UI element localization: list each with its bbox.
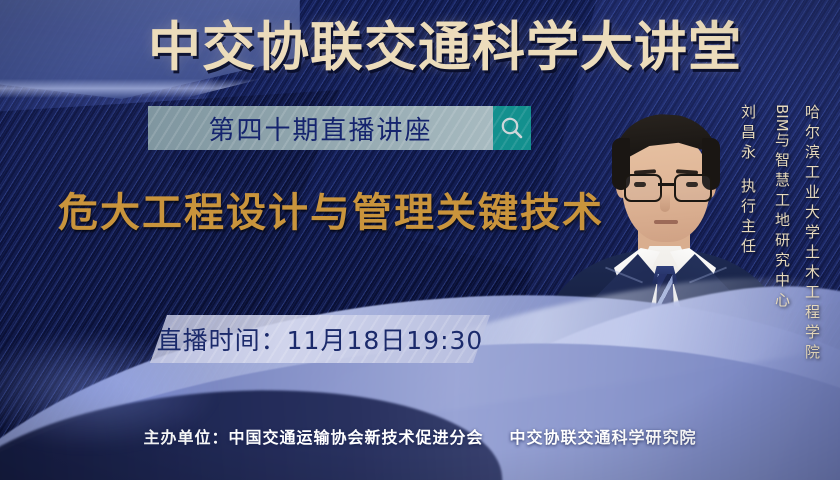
glasses-lens-left bbox=[624, 174, 662, 202]
speaker-role: 执行主任 bbox=[738, 178, 759, 258]
speaker-org-school: 哈尔滨工业大学土木工程学院 bbox=[802, 104, 823, 364]
speaker-org-center: BIM与智慧工地研究中心 bbox=[772, 104, 796, 312]
portrait-nose bbox=[660, 192, 670, 212]
footer-organizer-second: 中交协联交通科学研究院 bbox=[510, 428, 697, 447]
glasses-lens-right bbox=[674, 174, 712, 202]
speaker-org-center-suffix: 与智慧工地研究中心 bbox=[773, 132, 791, 312]
episode-strip: 第四十期直播讲座 bbox=[148, 106, 493, 150]
speaker-org-center-prefix: BIM bbox=[773, 104, 791, 132]
broadcast-time-banner: 直播时间：11月18日19:30 bbox=[150, 315, 490, 363]
footer-organizer: 主办单位：中国交通运输协会新技术促进分会 bbox=[143, 428, 483, 447]
episode-banner: 第四十期直播讲座 bbox=[148, 106, 531, 150]
footer: 主办单位：中国交通运输协会新技术促进分会中交协联交通科学研究院 bbox=[0, 424, 840, 448]
search-button[interactable] bbox=[493, 106, 531, 150]
page-title: 中交协联交通科学大讲堂 bbox=[148, 16, 708, 80]
live-lecture-poster: 中交协联交通科学大讲堂 第四十期直播讲座 危大工程设计与管理关键技术 直播时间：… bbox=[0, 0, 840, 480]
search-icon bbox=[499, 115, 525, 141]
broadcast-time-label: 直播时间：11月18日19:30 bbox=[157, 321, 484, 357]
episode-label: 第四十期直播讲座 bbox=[208, 110, 432, 147]
lecture-headline: 危大工程设计与管理关键技术 bbox=[58, 188, 604, 238]
speaker-name: 刘昌永 bbox=[738, 104, 759, 164]
portrait-mouth bbox=[654, 220, 678, 224]
glasses-bridge bbox=[658, 183, 674, 186]
